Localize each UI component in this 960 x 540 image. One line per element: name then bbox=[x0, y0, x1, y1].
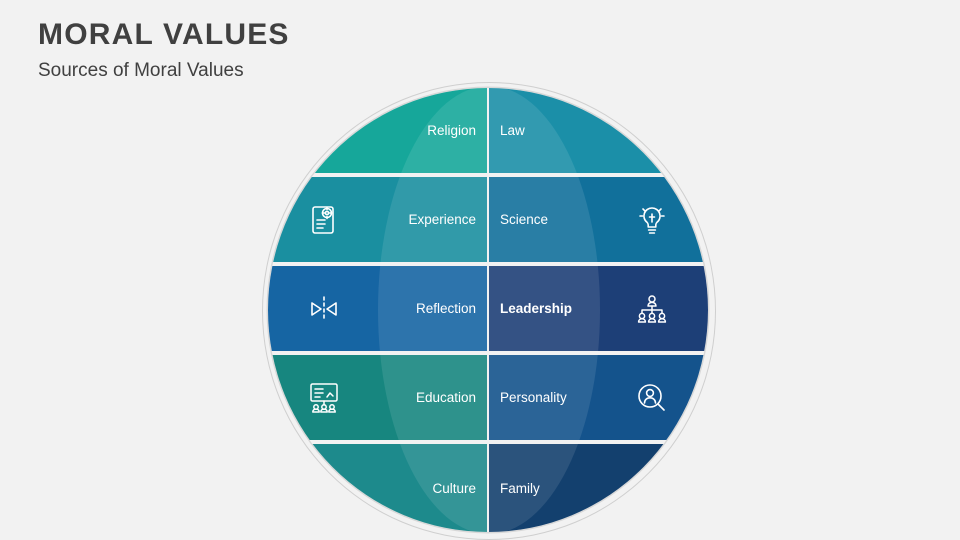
document-gear-icon bbox=[304, 200, 344, 240]
segment-label: Personality bbox=[500, 390, 567, 405]
row-education-personality: Education Personality bbox=[268, 355, 708, 440]
page-title: MORAL VALUES bbox=[38, 18, 290, 52]
segment-label: Culture bbox=[432, 481, 476, 496]
mirror-arrows-icon bbox=[304, 289, 344, 329]
family-group-icon bbox=[632, 468, 672, 508]
segment-label: Science bbox=[500, 212, 548, 227]
segment-personality[interactable]: Personality bbox=[488, 355, 708, 440]
lightbulb-idea-icon bbox=[632, 200, 672, 240]
segment-experience[interactable]: Experience bbox=[268, 177, 488, 262]
burst-star-icon bbox=[304, 468, 344, 508]
rows: Religion Law bbox=[268, 88, 708, 532]
gavel-icon bbox=[632, 111, 672, 151]
slide: MORAL VALUES Sources of Moral Values bbox=[0, 0, 960, 540]
segment-label: Leadership bbox=[500, 301, 572, 316]
segment-science[interactable]: Science bbox=[488, 177, 708, 262]
row-religion-law: Religion Law bbox=[268, 88, 708, 173]
row-divider bbox=[487, 355, 489, 440]
segment-label: Education bbox=[416, 390, 476, 405]
segment-family[interactable]: Family bbox=[488, 444, 708, 532]
segment-label: Experience bbox=[408, 212, 476, 227]
circle-clip: Religion Law bbox=[268, 88, 708, 532]
segment-education[interactable]: Education bbox=[268, 355, 488, 440]
row-culture-family: Culture Family bbox=[268, 444, 708, 532]
segment-leadership[interactable]: Leadership bbox=[488, 266, 708, 351]
circle-diagram: Religion Law bbox=[268, 88, 708, 532]
segment-reflection[interactable]: Reflection bbox=[268, 266, 488, 351]
presentation-class-icon bbox=[304, 378, 344, 418]
row-divider bbox=[487, 444, 489, 532]
segment-law[interactable]: Law bbox=[488, 88, 708, 173]
row-divider bbox=[487, 266, 489, 351]
team-org-icon bbox=[632, 289, 672, 329]
segment-label: Religion bbox=[427, 123, 476, 138]
row-experience-science: Experience Science bbox=[268, 177, 708, 262]
segment-label: Family bbox=[500, 481, 540, 496]
row-divider bbox=[487, 177, 489, 262]
segment-religion[interactable]: Religion bbox=[268, 88, 488, 173]
person-search-icon bbox=[632, 378, 672, 418]
row-divider bbox=[487, 88, 489, 173]
praying-hands-icon bbox=[304, 111, 344, 151]
page-subtitle: Sources of Moral Values bbox=[38, 60, 244, 82]
segment-label: Reflection bbox=[416, 301, 476, 316]
segment-label: Law bbox=[500, 123, 525, 138]
segment-culture[interactable]: Culture bbox=[268, 444, 488, 532]
row-reflection-leadership: Reflection Leadership bbox=[268, 266, 708, 351]
